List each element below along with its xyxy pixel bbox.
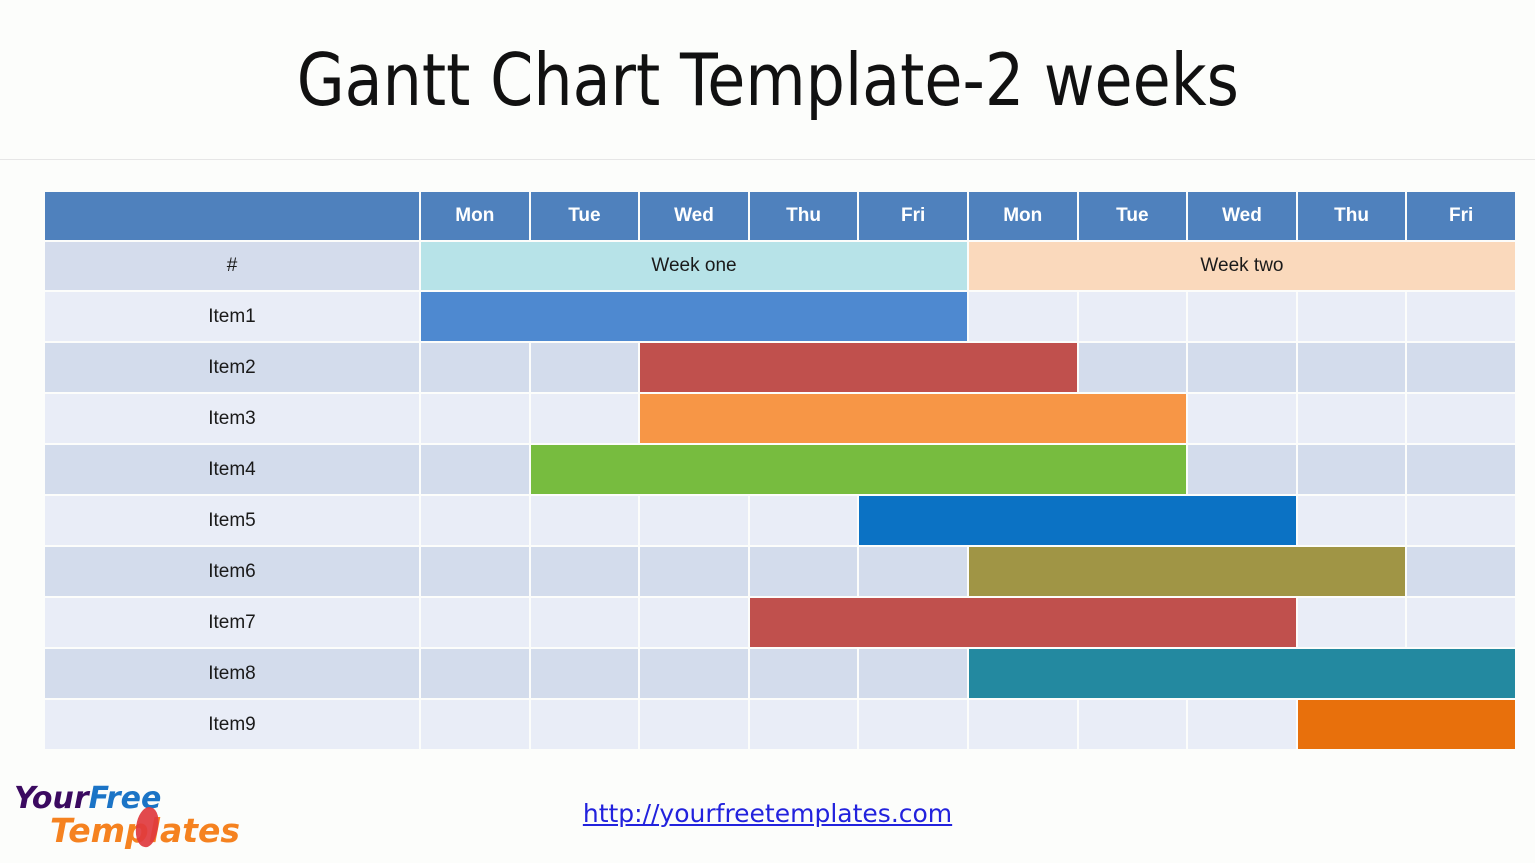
gantt-cell-empty[interactable] xyxy=(1298,496,1406,545)
gantt-cell-empty[interactable] xyxy=(1188,445,1296,494)
gantt-chart: MonTueWedThuFriMonTueWedThuFri #Week one… xyxy=(43,190,1493,751)
row-label-item8[interactable]: Item8 xyxy=(45,649,419,698)
gantt-cell-empty[interactable] xyxy=(1188,292,1296,341)
day-header-4: Thu xyxy=(750,192,858,240)
gantt-cell-empty[interactable] xyxy=(421,445,529,494)
day-header-5: Fri xyxy=(859,192,967,240)
table-row: Item5 xyxy=(45,496,1515,545)
gantt-cell-empty[interactable] xyxy=(969,700,1077,749)
gantt-cell-empty[interactable] xyxy=(1407,598,1515,647)
gantt-cell-empty[interactable] xyxy=(969,292,1077,341)
gantt-cell-empty[interactable] xyxy=(1188,700,1296,749)
gantt-cell-empty[interactable] xyxy=(421,547,529,596)
gantt-cell-empty[interactable] xyxy=(1407,292,1515,341)
gantt-cell-empty[interactable] xyxy=(1298,445,1406,494)
gantt-cell-empty[interactable] xyxy=(421,649,529,698)
gantt-cell-empty[interactable] xyxy=(421,496,529,545)
gantt-cell-empty[interactable] xyxy=(640,547,748,596)
day-header-9: Thu xyxy=(1298,192,1406,240)
gantt-bar-item7[interactable] xyxy=(750,598,1296,647)
gantt-bar-item2[interactable] xyxy=(640,343,1076,392)
day-header-1: Mon xyxy=(421,192,529,240)
gantt-bar-item5[interactable] xyxy=(859,496,1295,545)
gantt-bar-item1[interactable] xyxy=(421,292,967,341)
day-header-8: Wed xyxy=(1188,192,1296,240)
gantt-cell-empty[interactable] xyxy=(1298,598,1406,647)
gantt-cell-empty[interactable] xyxy=(421,700,529,749)
row-label-item1[interactable]: Item1 xyxy=(45,292,419,341)
row-label-header: # xyxy=(45,242,419,290)
gantt-bar-item3[interactable] xyxy=(640,394,1186,443)
gantt-cell-empty[interactable] xyxy=(859,547,967,596)
gantt-cell-empty[interactable] xyxy=(859,700,967,749)
gantt-cell-empty[interactable] xyxy=(531,343,639,392)
gantt-cell-empty[interactable] xyxy=(1298,394,1406,443)
gantt-rows: Item1Item2Item3Item4Item5Item6Item7Item8… xyxy=(45,292,1515,749)
table-row: Item3 xyxy=(45,394,1515,443)
table-row: Item4 xyxy=(45,445,1515,494)
gantt-cell-empty[interactable] xyxy=(640,700,748,749)
gantt-cell-empty[interactable] xyxy=(1079,700,1187,749)
gantt-cell-empty[interactable] xyxy=(640,496,748,545)
gantt-cell-empty[interactable] xyxy=(1407,394,1515,443)
gantt-bar-item8[interactable] xyxy=(969,649,1515,698)
page-title: Gantt Chart Template-2 weeks xyxy=(296,38,1238,122)
table-corner-cell xyxy=(45,192,419,240)
row-label-item9[interactable]: Item9 xyxy=(45,700,419,749)
gantt-cell-empty[interactable] xyxy=(531,649,639,698)
gantt-cell-empty[interactable] xyxy=(1079,292,1187,341)
day-header-3: Wed xyxy=(640,192,748,240)
gantt-cell-empty[interactable] xyxy=(1407,496,1515,545)
week-band-2: Week two xyxy=(969,242,1515,290)
gantt-cell-empty[interactable] xyxy=(531,598,639,647)
row-label-item6[interactable]: Item6 xyxy=(45,547,419,596)
table-header-row: MonTueWedThuFriMonTueWedThuFri xyxy=(45,192,1515,240)
table-row: Item6 xyxy=(45,547,1515,596)
gantt-cell-empty[interactable] xyxy=(421,343,529,392)
gantt-table: MonTueWedThuFriMonTueWedThuFri #Week one… xyxy=(43,190,1517,751)
gantt-cell-empty[interactable] xyxy=(1079,343,1187,392)
gantt-cell-empty[interactable] xyxy=(750,649,858,698)
gantt-bar-item6[interactable] xyxy=(969,547,1405,596)
day-header-2: Tue xyxy=(531,192,639,240)
table-row: Item7 xyxy=(45,598,1515,647)
day-header-10: Fri xyxy=(1407,192,1515,240)
gantt-cell-empty[interactable] xyxy=(531,700,639,749)
gantt-cell-empty[interactable] xyxy=(1407,343,1515,392)
gantt-cell-empty[interactable] xyxy=(1298,343,1406,392)
title-bar: Gantt Chart Template-2 weeks xyxy=(0,0,1535,160)
gantt-cell-empty[interactable] xyxy=(1298,292,1406,341)
row-label-item2[interactable]: Item2 xyxy=(45,343,419,392)
week-band-1: Week one xyxy=(421,242,967,290)
table-row: Item9 xyxy=(45,700,1515,749)
gantt-cell-empty[interactable] xyxy=(750,547,858,596)
table-row: Item2 xyxy=(45,343,1515,392)
table-row: Item8 xyxy=(45,649,1515,698)
gantt-cell-empty[interactable] xyxy=(531,394,639,443)
gantt-cell-empty[interactable] xyxy=(750,700,858,749)
footer: YourFree Templates http://yourfreetempla… xyxy=(0,773,1535,863)
row-label-item3[interactable]: Item3 xyxy=(45,394,419,443)
gantt-bar-item9[interactable] xyxy=(1298,700,1515,749)
row-label-item7[interactable]: Item7 xyxy=(45,598,419,647)
gantt-cell-empty[interactable] xyxy=(531,547,639,596)
gantt-cell-empty[interactable] xyxy=(1407,547,1515,596)
gantt-cell-empty[interactable] xyxy=(750,496,858,545)
day-header-7: Tue xyxy=(1079,192,1187,240)
gantt-cell-empty[interactable] xyxy=(1188,343,1296,392)
site-url-link[interactable]: http://yourfreetemplates.com xyxy=(0,799,1535,828)
gantt-bar-item4[interactable] xyxy=(531,445,1187,494)
gantt-cell-empty[interactable] xyxy=(421,394,529,443)
gantt-cell-empty[interactable] xyxy=(421,598,529,647)
day-header-6: Mon xyxy=(969,192,1077,240)
gantt-cell-empty[interactable] xyxy=(1407,445,1515,494)
gantt-cell-empty[interactable] xyxy=(1188,394,1296,443)
row-label-item5[interactable]: Item5 xyxy=(45,496,419,545)
gantt-cell-empty[interactable] xyxy=(859,649,967,698)
row-label-item4[interactable]: Item4 xyxy=(45,445,419,494)
gantt-cell-empty[interactable] xyxy=(531,496,639,545)
gantt-cell-empty[interactable] xyxy=(640,649,748,698)
table-row: Item1 xyxy=(45,292,1515,341)
week-band-row: #Week oneWeek two xyxy=(45,242,1515,290)
gantt-cell-empty[interactable] xyxy=(640,598,748,647)
